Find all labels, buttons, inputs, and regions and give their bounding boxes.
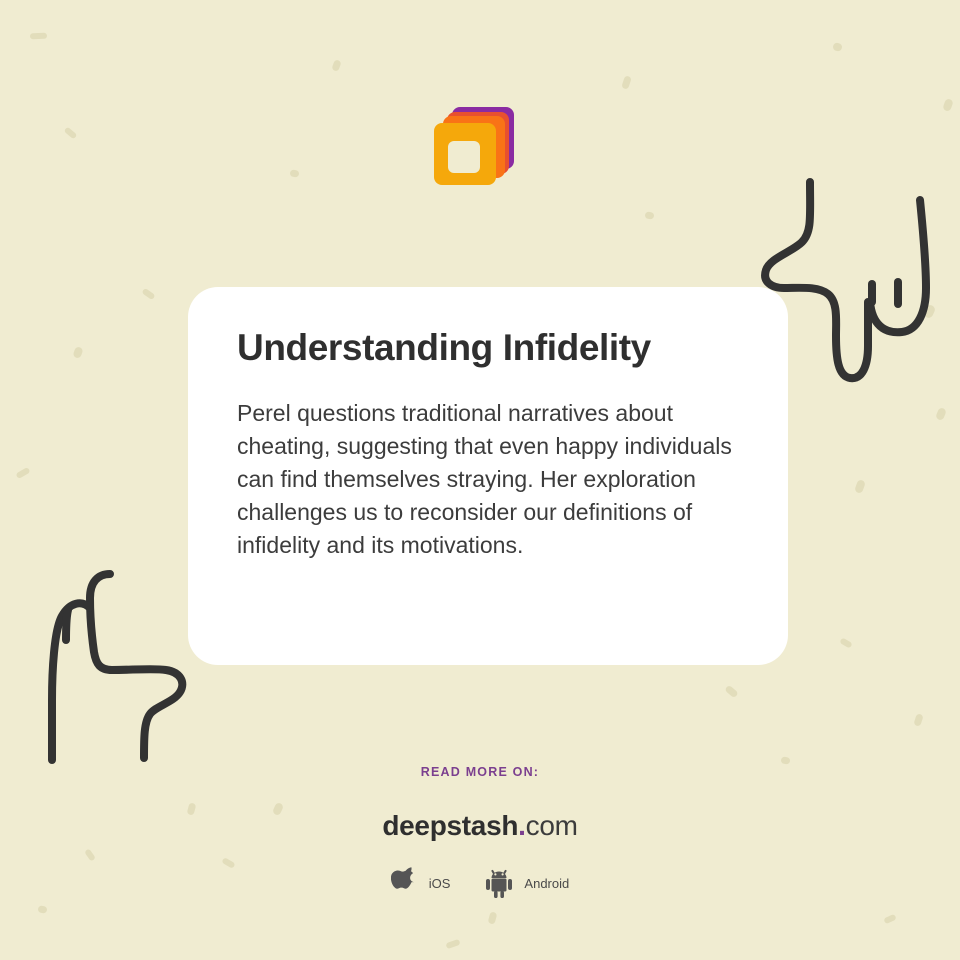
confetti-mark [15, 467, 30, 479]
confetti-mark [289, 169, 299, 177]
confetti-mark [64, 127, 78, 140]
confetti-mark [644, 211, 654, 219]
confetti-mark [621, 75, 632, 90]
confetti-mark [72, 346, 83, 359]
confetti-mark [331, 59, 341, 72]
confetti-mark [913, 713, 923, 727]
brand-url[interactable]: deepstash.com [0, 810, 960, 842]
confetti-mark [780, 756, 790, 764]
store-badge-ios[interactable]: iOS [391, 866, 451, 900]
page-title: Understanding Infidelity [237, 327, 740, 370]
brand-tld: com [526, 810, 578, 841]
confetti-mark [854, 479, 866, 494]
store-label-android: Android [524, 876, 569, 891]
deepstash-logo[interactable] [428, 103, 518, 193]
store-label-ios: iOS [429, 876, 451, 891]
store-badges: iOS And [0, 866, 960, 900]
apple-icon [391, 866, 421, 900]
read-more-label: READ MORE ON: [0, 765, 960, 779]
poster-canvas: Understanding Infidelity Perel questions… [0, 0, 960, 960]
brand-name: deepstash [382, 810, 518, 841]
confetti-mark [923, 304, 937, 320]
footer: READ MORE ON: deepstash.com iOS [0, 765, 960, 900]
card-body-text: Perel questions traditional narratives a… [237, 397, 737, 562]
confetti-mark [37, 905, 47, 914]
confetti-mark [141, 288, 155, 300]
confetti-mark [724, 685, 738, 699]
store-badge-android[interactable]: Android [482, 866, 569, 900]
brand-dot: . [518, 810, 525, 841]
confetti-mark [488, 911, 498, 924]
confetti-mark [832, 42, 842, 52]
android-icon [482, 866, 516, 900]
confetti-mark [883, 914, 896, 925]
stacked-squares-icon [428, 103, 518, 193]
confetti-mark [935, 407, 947, 421]
confetti-mark [942, 98, 954, 112]
confetti-mark [30, 33, 47, 40]
content-card: Understanding Infidelity Perel questions… [188, 287, 788, 665]
pointing-hand-up-illustration [24, 560, 199, 775]
confetti-mark [445, 939, 460, 949]
confetti-mark [839, 637, 852, 648]
